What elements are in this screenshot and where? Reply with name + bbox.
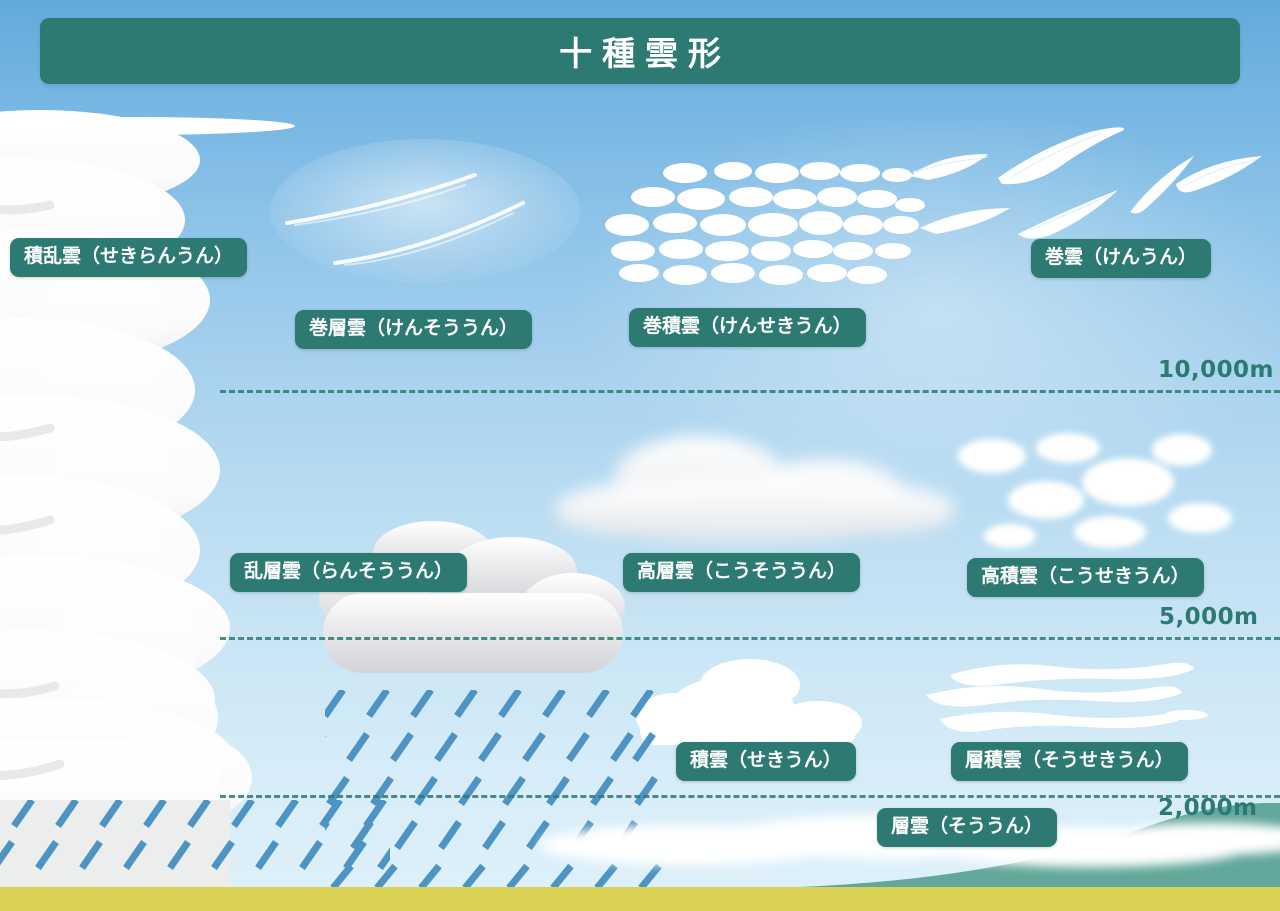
cloud-label-cumulonimbus[interactable]: 積乱雲（せきらんうん） bbox=[10, 238, 247, 277]
altitude-line-5000 bbox=[220, 637, 1280, 640]
altitude-line-2000 bbox=[220, 795, 1280, 798]
ground-strip bbox=[0, 887, 1280, 911]
infographic-canvas: 十種雲形 bbox=[0, 0, 1280, 911]
altocumulus-cloud-icon bbox=[950, 420, 1280, 550]
cloud-label-stratus[interactable]: 層雲（そううん） bbox=[877, 808, 1057, 847]
cloud-label-stratocumulus[interactable]: 層積雲（そうせきうん） bbox=[951, 742, 1188, 781]
altitude-label-5000: 5,000m bbox=[1159, 604, 1258, 630]
cloud-label-altocumulus[interactable]: 高積雲（こうせきうん） bbox=[967, 558, 1204, 597]
altitude-line-10000 bbox=[220, 390, 1280, 393]
cloud-label-cirrus[interactable]: 巻雲（けんうん） bbox=[1031, 239, 1211, 278]
cumulus-cloud-icon bbox=[640, 655, 890, 755]
cloud-label-cumulus[interactable]: 積雲（せきうん） bbox=[676, 742, 856, 781]
page-title: 十種雲形 bbox=[549, 27, 731, 75]
altitude-label-2000: 2,000m bbox=[1158, 795, 1257, 821]
cloud-label-cirrocumulus[interactable]: 巻積雲（けんせきうん） bbox=[629, 308, 866, 347]
cirrocumulus-cloud-icon bbox=[605, 155, 925, 290]
nimbostratus-cloud-icon bbox=[305, 515, 645, 715]
altitude-label-10000: 10,000m bbox=[1158, 357, 1274, 383]
title-banner: 十種雲形 bbox=[40, 18, 1240, 84]
cirrus-cloud-icon bbox=[890, 110, 1280, 245]
cumulonimbus-cloud-icon bbox=[0, 100, 350, 890]
cloud-label-nimbostratus[interactable]: 乱層雲（らんそううん） bbox=[230, 553, 467, 592]
cloud-label-cirrostratus[interactable]: 巻層雲（けんそううん） bbox=[295, 310, 532, 349]
cumulonimbus-anvil-icon bbox=[0, 108, 340, 148]
stratocumulus-cloud-icon bbox=[910, 655, 1210, 745]
cloud-label-altostratus[interactable]: 高層雲（こうそううん） bbox=[623, 553, 860, 592]
